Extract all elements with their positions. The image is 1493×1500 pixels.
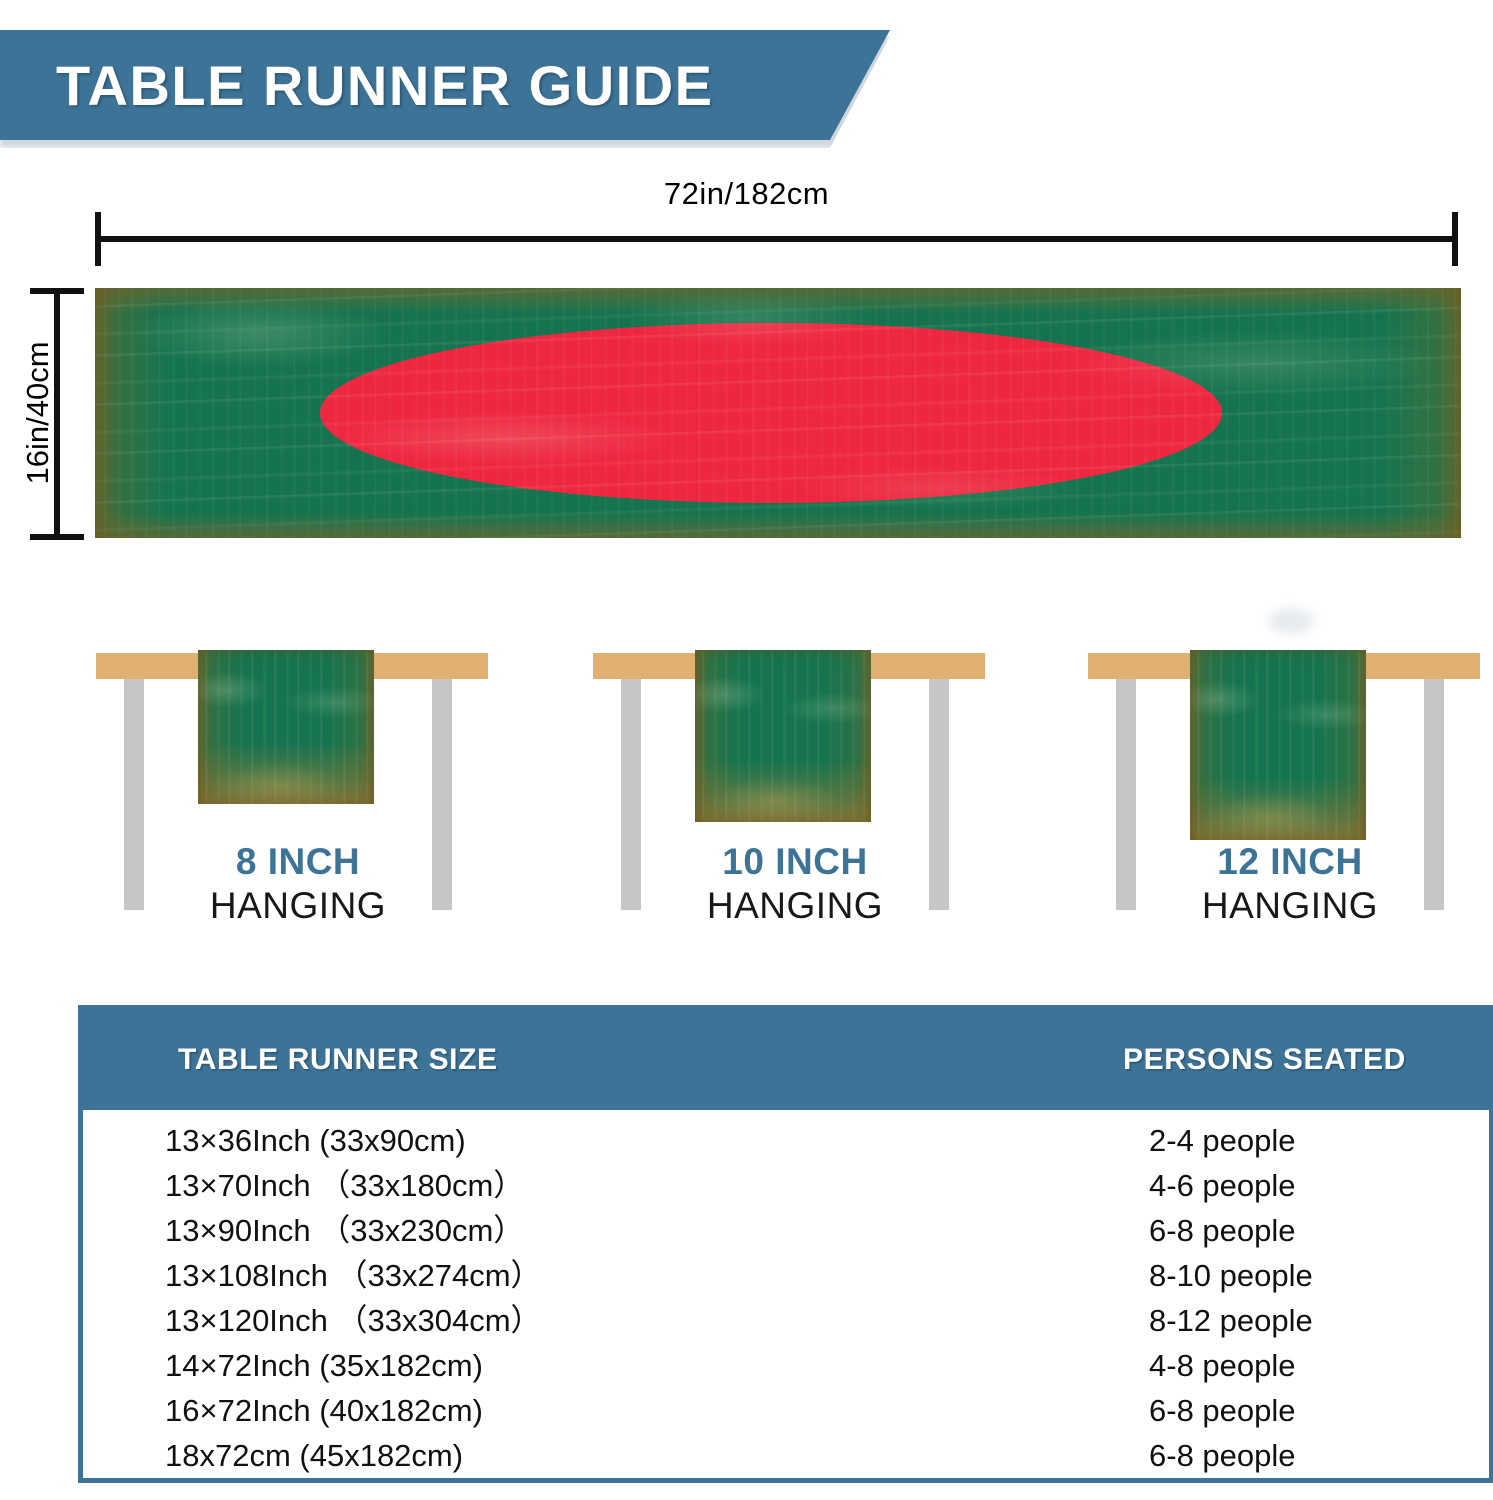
cell-persons: 4-8 people — [1149, 1343, 1296, 1388]
cell-size: 16×72Inch (40x182cm) — [165, 1388, 483, 1433]
hanging-illustration-12-inch: 12 INCH HANGING — [1080, 600, 1493, 940]
cell-size: 18x72cm (45x182cm) — [165, 1433, 463, 1478]
cell-persons: 6-8 people — [1149, 1433, 1296, 1478]
hanging-caption: 8 INCH HANGING — [88, 840, 508, 927]
cell-size: 13×36Inch (33x90cm) — [165, 1118, 466, 1163]
cell-size: 13×70Inch （33x180cm） — [165, 1163, 524, 1208]
drape-fabric — [198, 650, 374, 804]
drape-fabric — [695, 650, 871, 822]
hanging-length-label: 10 INCH — [585, 840, 1005, 884]
table-runner-guide-page: TABLE RUNNER GUIDE 72in/182cm 16in/40cm … — [0, 0, 1493, 1500]
runner-width-label: 72in/182cm — [0, 176, 1493, 212]
table-row: 18x72cm (45x182cm) 6-8 people — [83, 1433, 1489, 1478]
table-row: 13×108Inch （33x274cm） 8-10 people — [83, 1253, 1489, 1298]
runner-drape — [1190, 650, 1366, 840]
cell-size: 14×72Inch (35x182cm) — [165, 1343, 483, 1388]
width-dimension-line — [95, 236, 1458, 242]
cell-persons: 6-8 people — [1149, 1208, 1296, 1253]
table-row: 16×72Inch (40x182cm) 6-8 people — [83, 1388, 1489, 1433]
table-row: 14×72Inch (35x182cm) 4-8 people — [83, 1343, 1489, 1388]
width-dimension-cap-left — [95, 212, 101, 266]
runner-drape — [695, 650, 871, 822]
cell-persons: 2-4 people — [1149, 1118, 1296, 1163]
cell-persons: 8-10 people — [1149, 1253, 1313, 1298]
cell-size: 13×108Inch （33x274cm） — [165, 1253, 542, 1298]
runner-height-label: 16in/40cm — [20, 283, 56, 543]
hanging-caption: 10 INCH HANGING — [585, 840, 1005, 927]
cell-size: 13×90Inch （33x230cm） — [165, 1208, 524, 1253]
table-row: 13×90Inch （33x230cm） 6-8 people — [83, 1208, 1489, 1253]
cell-persons: 6-8 people — [1149, 1388, 1296, 1433]
hanging-length-label: 8 INCH — [88, 840, 508, 884]
hanging-caption: 12 INCH HANGING — [1080, 840, 1493, 927]
size-table-header: TABLE RUNNER SIZE PERSONS SEATED — [83, 1010, 1489, 1110]
size-table-body: 13×36Inch (33x90cm) 2-4 people 13×70Inch… — [83, 1110, 1489, 1478]
table-row: 13×70Inch （33x180cm） 4-6 people — [83, 1163, 1489, 1208]
hanging-length-label: 12 INCH — [1080, 840, 1493, 884]
cell-size: 13×120Inch （33x304cm） — [165, 1298, 542, 1343]
flag-red-ellipse — [320, 323, 1222, 503]
runner-drape — [198, 650, 374, 804]
hanging-word-label: HANGING — [88, 884, 508, 928]
table-row: 13×36Inch (33x90cm) 2-4 people — [83, 1118, 1489, 1163]
drape-fabric — [1190, 650, 1366, 840]
table-row: 13×120Inch （33x304cm） 8-12 people — [83, 1298, 1489, 1343]
hanging-word-label: HANGING — [585, 884, 1005, 928]
column-header-size: TABLE RUNNER SIZE — [178, 1043, 498, 1077]
image-artifact-smudge — [1268, 608, 1314, 634]
header-banner: TABLE RUNNER GUIDE — [0, 30, 890, 140]
cell-persons: 4-6 people — [1149, 1163, 1296, 1208]
hanging-word-label: HANGING — [1080, 884, 1493, 928]
page-title: TABLE RUNNER GUIDE — [56, 53, 714, 118]
table-runner-product-image — [95, 288, 1461, 538]
size-table: TABLE RUNNER SIZE PERSONS SEATED 13×36In… — [78, 1005, 1493, 1483]
hanging-illustration-10-inch: 10 INCH HANGING — [585, 600, 1005, 940]
cell-persons: 8-12 people — [1149, 1298, 1313, 1343]
hanging-illustration-8-inch: 8 INCH HANGING — [88, 600, 508, 940]
width-dimension-cap-right — [1452, 212, 1458, 266]
column-header-persons: PERSONS SEATED — [1123, 1043, 1406, 1077]
